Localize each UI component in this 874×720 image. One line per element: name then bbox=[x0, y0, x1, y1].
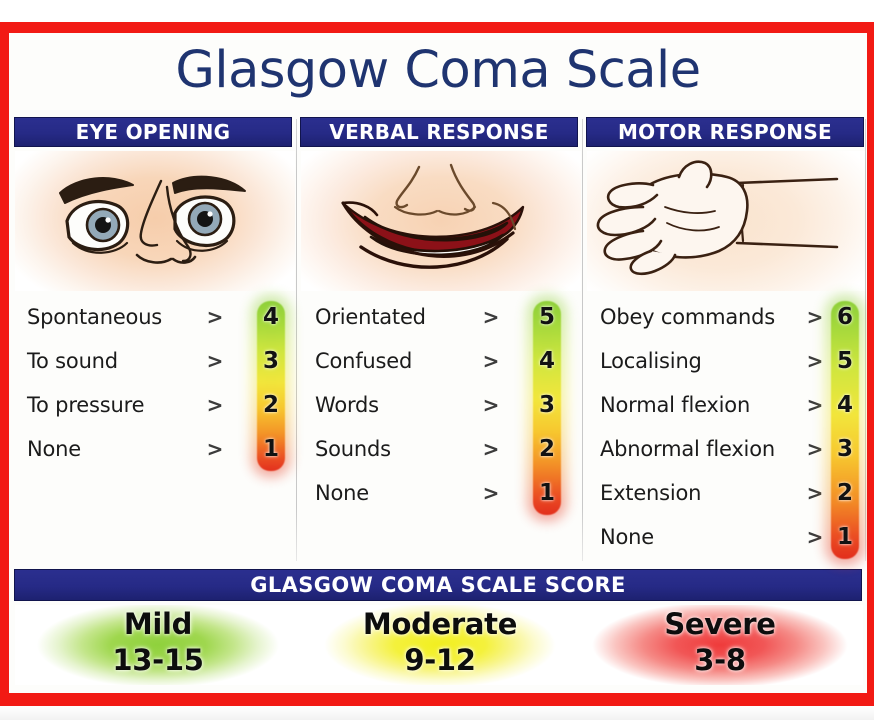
score-value: 1 bbox=[829, 524, 861, 550]
chevron-right-icon: > bbox=[805, 393, 825, 417]
response-label: To pressure bbox=[27, 393, 144, 417]
column-divider-1 bbox=[296, 119, 297, 561]
score-value: 4 bbox=[829, 392, 861, 418]
score-value: 5 bbox=[829, 348, 861, 374]
score-value: 4 bbox=[531, 348, 563, 374]
bottom-margin bbox=[0, 706, 874, 720]
chevron-right-icon: > bbox=[805, 305, 825, 329]
top-margin bbox=[0, 0, 874, 22]
illustration-eye-opening bbox=[15, 151, 295, 291]
response-label: Obey commands bbox=[600, 305, 775, 329]
severity-name: Severe bbox=[577, 605, 863, 643]
illustration-verbal-response bbox=[301, 151, 581, 291]
list-item[interactable]: Localising > 5 bbox=[587, 339, 865, 383]
score-value: 2 bbox=[255, 392, 287, 418]
illustration-motor-response bbox=[587, 151, 865, 291]
column-header-motor-response: MOTOR RESPONSE bbox=[586, 117, 864, 147]
chevron-right-icon: > bbox=[805, 349, 825, 373]
response-label: To sound bbox=[27, 349, 118, 373]
chevron-right-icon: > bbox=[205, 305, 225, 329]
chevron-right-icon: > bbox=[805, 481, 825, 505]
severity-severe[interactable]: Severe 3-8 bbox=[577, 605, 863, 685]
column-header-row: EYE OPENING VERBAL RESPONSE MOTOR RESPON… bbox=[9, 117, 867, 147]
chevron-right-icon: > bbox=[481, 305, 501, 329]
chevron-right-icon: > bbox=[481, 437, 501, 461]
list-item[interactable]: Abnormal flexion > 3 bbox=[587, 427, 865, 471]
score-value: 3 bbox=[255, 348, 287, 374]
response-label: Words bbox=[315, 393, 379, 417]
column-header-eye-opening: EYE OPENING bbox=[14, 117, 292, 147]
score-value: 4 bbox=[255, 304, 287, 330]
response-label: Localising bbox=[600, 349, 702, 373]
response-label: Abnormal flexion bbox=[600, 437, 775, 461]
page-title: Glasgow Coma Scale bbox=[9, 35, 867, 107]
chevron-right-icon: > bbox=[205, 393, 225, 417]
score-value: 3 bbox=[531, 392, 563, 418]
list-item[interactable]: None > 1 bbox=[587, 515, 865, 559]
eyes-icon bbox=[15, 151, 295, 291]
chevron-right-icon: > bbox=[805, 437, 825, 461]
response-label: Sounds bbox=[315, 437, 391, 461]
chevron-right-icon: > bbox=[805, 525, 825, 549]
chevron-right-icon: > bbox=[481, 481, 501, 505]
response-label: None bbox=[600, 525, 654, 549]
severity-range: 3-8 bbox=[577, 643, 863, 677]
chevron-right-icon: > bbox=[205, 349, 225, 373]
response-label: Confused bbox=[315, 349, 412, 373]
score-value: 1 bbox=[531, 480, 563, 506]
hand-icon bbox=[587, 151, 865, 291]
list-item[interactable]: Normal flexion > 4 bbox=[587, 383, 865, 427]
response-label: None bbox=[315, 481, 369, 505]
response-label: Spontaneous bbox=[27, 305, 162, 329]
chevron-right-icon: > bbox=[205, 437, 225, 461]
mouth-icon bbox=[301, 151, 581, 291]
glasgow-coma-scale-poster: Glasgow Coma Scale EYE OPENING VERBAL RE… bbox=[0, 0, 874, 720]
chevron-right-icon: > bbox=[481, 349, 501, 373]
score-gradient-bar-motor bbox=[831, 301, 859, 559]
score-value: 6 bbox=[829, 304, 861, 330]
score-value: 3 bbox=[829, 436, 861, 462]
response-label: Extension bbox=[600, 481, 701, 505]
score-value: 2 bbox=[531, 436, 563, 462]
severity-row: Mild 13-15 Moderate 9-12 Severe 3-8 bbox=[9, 605, 867, 685]
severity-name: Mild bbox=[15, 605, 301, 643]
list-eye-opening: Spontaneous > 4 To sound > 3 To pressure… bbox=[15, 295, 295, 471]
score-value: 1 bbox=[255, 436, 287, 462]
list-item[interactable]: Obey commands > 6 bbox=[587, 295, 865, 339]
severity-mild[interactable]: Mild 13-15 bbox=[15, 605, 301, 685]
score-section-header: GLASGOW COMA SCALE SCORE bbox=[14, 569, 862, 601]
response-label: Orientated bbox=[315, 305, 426, 329]
poster-content: Glasgow Coma Scale EYE OPENING VERBAL RE… bbox=[9, 33, 867, 693]
list-verbal-response: Orientated > 5 Confused > 4 Words > 3 So… bbox=[301, 295, 581, 515]
severity-range: 9-12 bbox=[297, 643, 583, 677]
chevron-right-icon: > bbox=[481, 393, 501, 417]
severity-range: 13-15 bbox=[15, 643, 301, 677]
column-divider-2 bbox=[582, 119, 583, 561]
severity-name: Moderate bbox=[297, 605, 583, 643]
response-label: None bbox=[27, 437, 81, 461]
list-motor-response: Obey commands > 6 Localising > 5 Normal … bbox=[587, 295, 865, 559]
column-divider-3 bbox=[865, 119, 866, 561]
score-value: 2 bbox=[829, 480, 861, 506]
column-header-verbal-response: VERBAL RESPONSE bbox=[300, 117, 578, 147]
score-value: 5 bbox=[531, 304, 563, 330]
list-item[interactable]: Extension > 2 bbox=[587, 471, 865, 515]
severity-moderate[interactable]: Moderate 9-12 bbox=[297, 605, 583, 685]
response-label: Normal flexion bbox=[600, 393, 750, 417]
